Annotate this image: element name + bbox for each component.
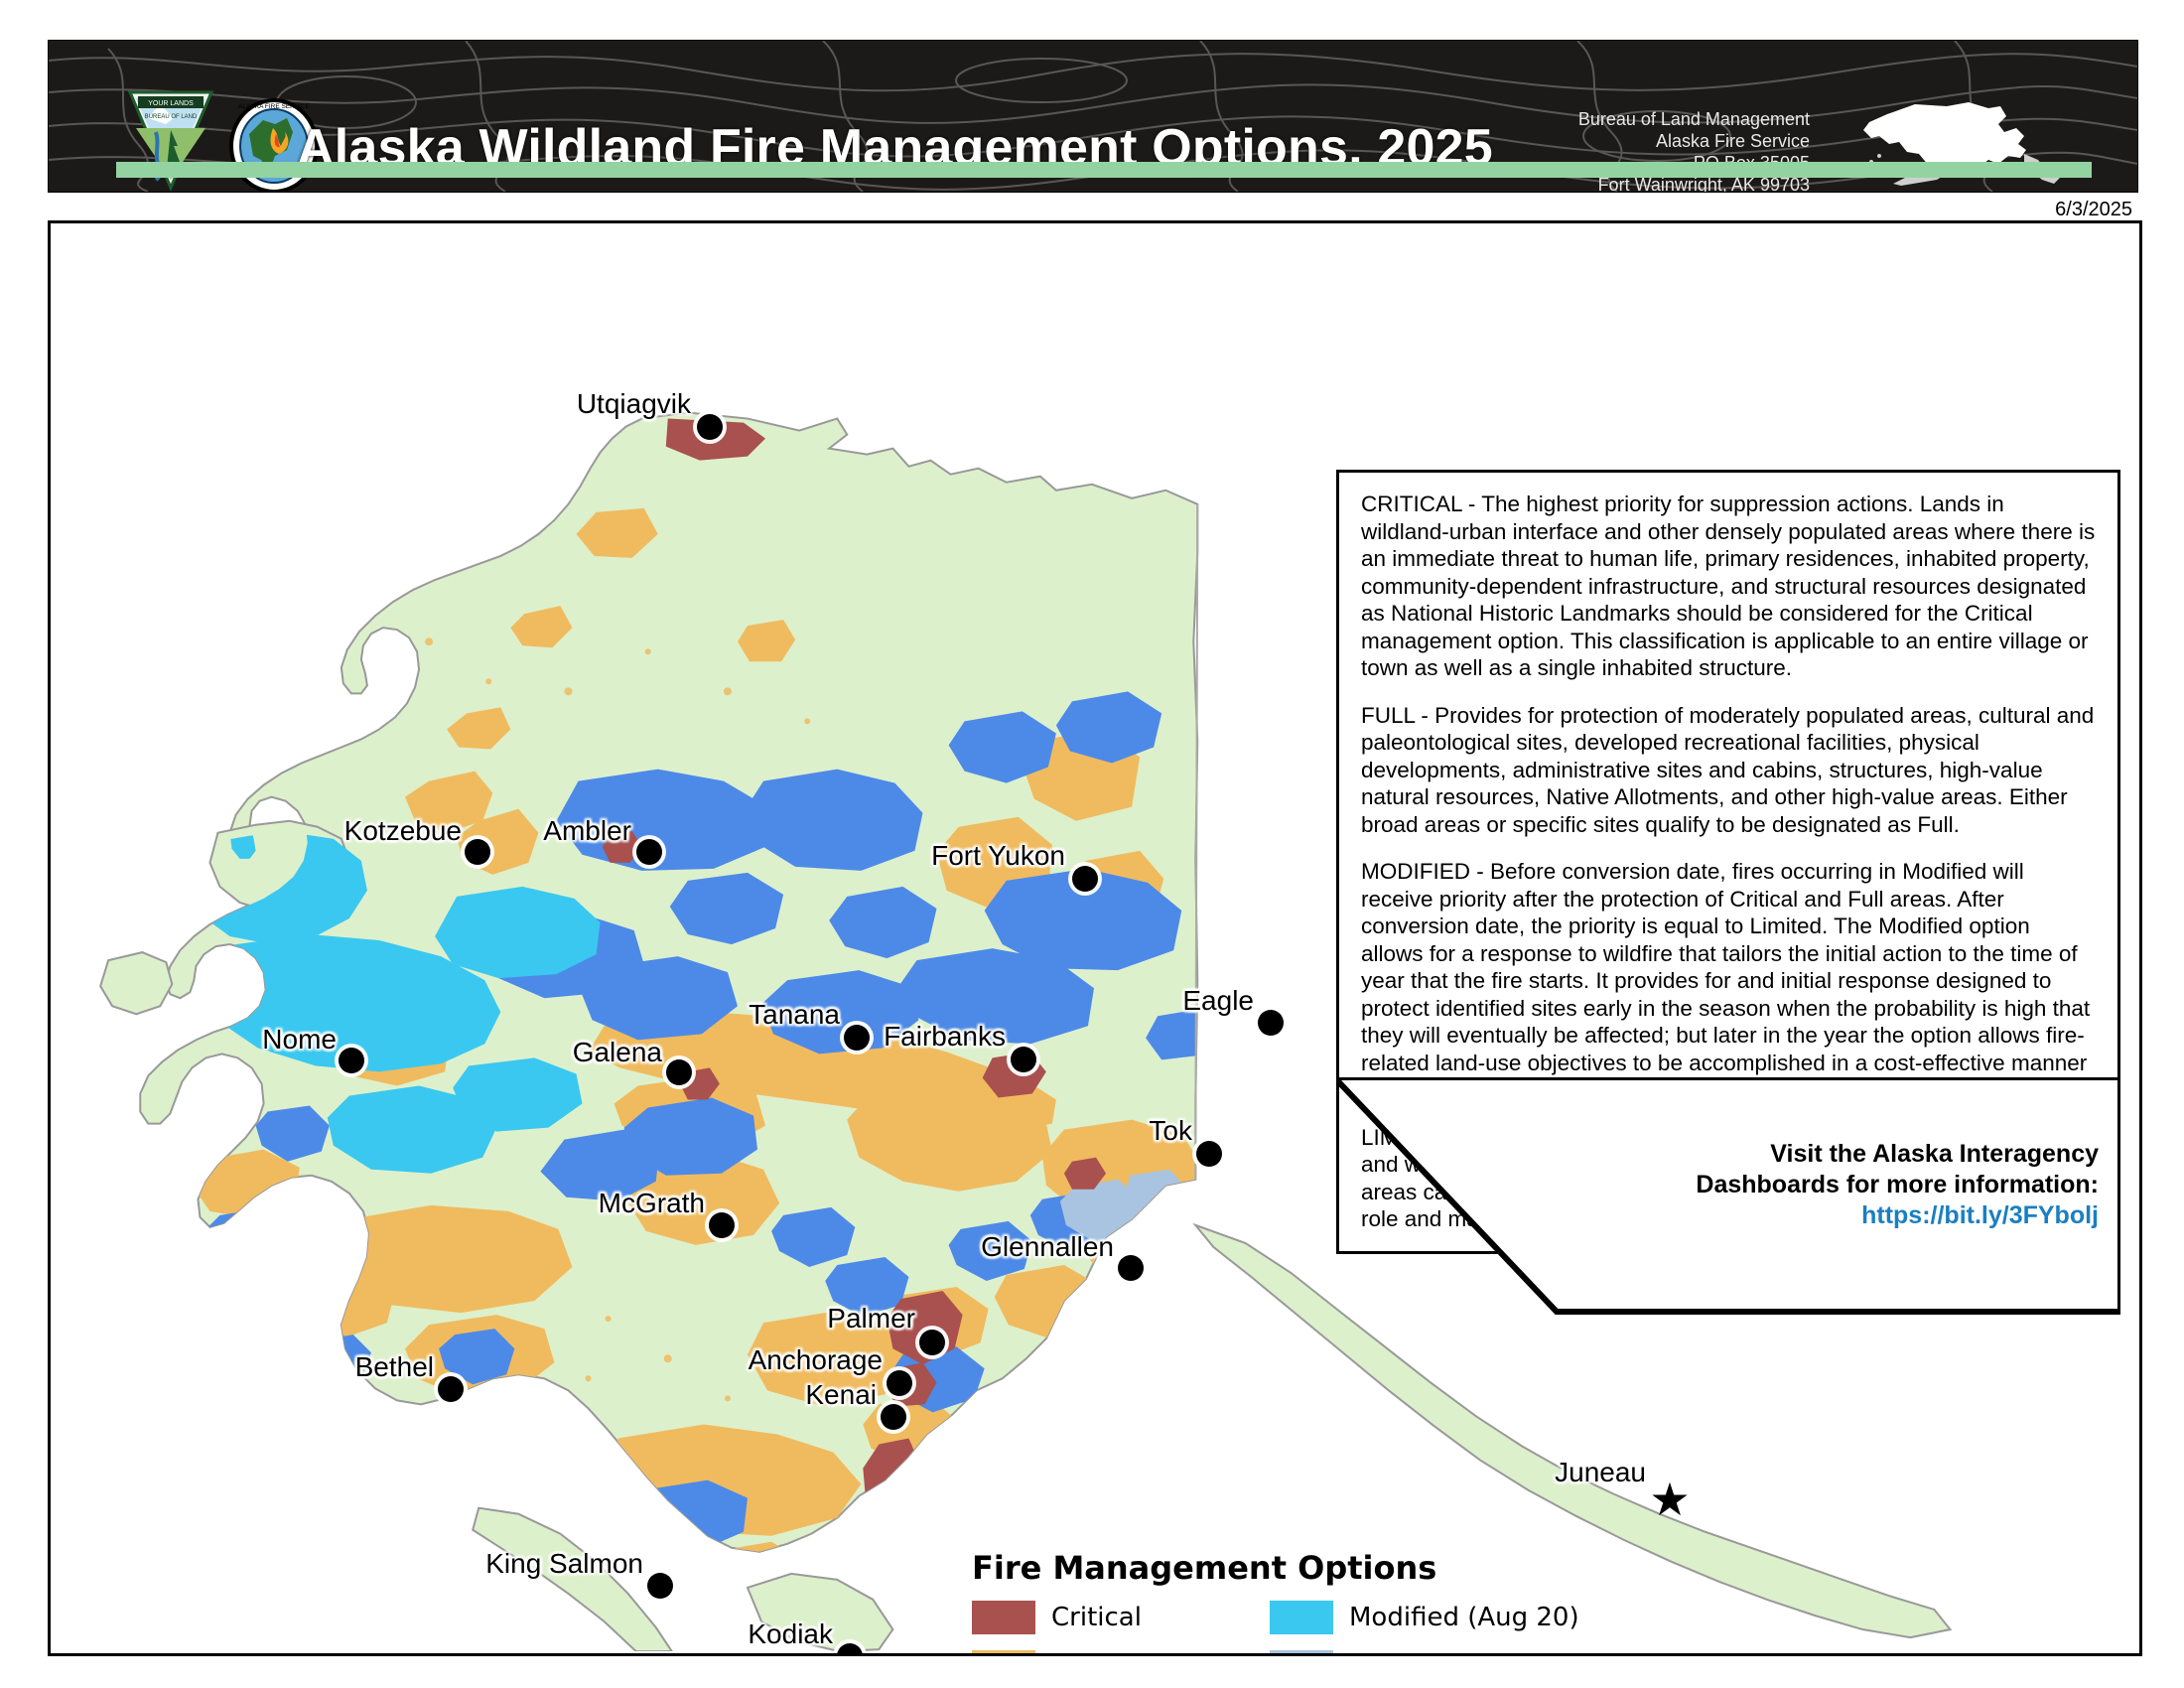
city-label: Kodiak xyxy=(748,1618,833,1650)
unplanned-areas xyxy=(1082,1338,1136,1382)
dashboard-text: Visit the Alaska Interagency Dashboards … xyxy=(1696,1139,2099,1231)
dashboard-line-1: Visit the Alaska Interagency xyxy=(1696,1139,2099,1170)
city-dot-icon xyxy=(709,1212,735,1238)
legend: Fire Management Options CriticalModified… xyxy=(972,1549,1538,1656)
city-dot-icon xyxy=(887,1370,912,1396)
address-line-1: Bureau of Land Management xyxy=(1578,108,1810,130)
city-label: King Salmon xyxy=(485,1548,643,1580)
city-label: Eagle xyxy=(1182,985,1254,1017)
legend-swatch xyxy=(972,1601,1035,1634)
svg-text:BUREAU OF LAND: BUREAU OF LAND xyxy=(145,114,198,120)
city-label: Anchorage xyxy=(749,1344,883,1376)
legend-items: CriticalModified (Aug 20)FullModified (S… xyxy=(972,1601,1538,1656)
description-critical: CRITICAL - The highest priority for supp… xyxy=(1361,491,2096,682)
city-label: Bethel xyxy=(355,1351,434,1383)
svg-text:YOUR LANDS: YOUR LANDS xyxy=(148,100,194,107)
city-dot-icon xyxy=(1196,1141,1222,1167)
description-modified: MODIFIED - Before conversion date, fires… xyxy=(1361,858,2096,1104)
dashboard-callout: Visit the Alaska Interagency Dashboards … xyxy=(1336,1077,2120,1316)
city-dot-icon xyxy=(1118,1255,1144,1281)
dashboard-link[interactable]: https://bit.ly/3FYbolj xyxy=(1696,1200,2099,1231)
city-label: Tanana xyxy=(749,999,840,1031)
city-label: Utqiagvik xyxy=(577,388,691,420)
legend-swatch xyxy=(972,1650,1035,1656)
header-banner: YOUR LANDS BUREAU OF LAND ALASKA FIRE SE… xyxy=(48,40,2138,193)
city-dot-icon xyxy=(1258,1010,1284,1036)
city-label: McGrath xyxy=(599,1188,705,1219)
city-dot-icon xyxy=(636,839,662,865)
legend-item-modified-sep-30[interactable]: Modified (Sep 30) xyxy=(1270,1650,1568,1656)
city-label: Palmer xyxy=(827,1303,915,1335)
city-label: Fort Yukon xyxy=(931,840,1065,872)
city-dot-icon xyxy=(465,839,490,865)
city-dot-icon xyxy=(647,1573,673,1599)
city-dot-icon xyxy=(666,1059,692,1085)
city-label: Ambler xyxy=(543,815,631,847)
city-label: Nome xyxy=(262,1024,337,1055)
city-dot-icon xyxy=(339,1048,364,1073)
city-dot-icon xyxy=(697,414,723,440)
city-label: Fairbanks xyxy=(884,1021,1006,1053)
city-label: Juneau xyxy=(1555,1457,1646,1488)
map-date: 6/3/2025 xyxy=(2055,199,2132,221)
capital-star-icon: ★ xyxy=(1649,1479,1690,1519)
agency-address: Bureau of Land Management Alaska Fire Se… xyxy=(1578,108,1810,193)
city-label: Tok xyxy=(1149,1115,1192,1147)
city-label: Galena xyxy=(573,1037,662,1068)
city-dot-icon xyxy=(438,1376,464,1402)
legend-label: Modified (Aug 20) xyxy=(1349,1603,1579,1632)
city-dot-icon xyxy=(881,1404,906,1430)
city-dot-icon xyxy=(1011,1047,1036,1072)
description-full: FULL - Provides for protection of modera… xyxy=(1361,702,2096,839)
dashboard-line-2: Dashboards for more information: xyxy=(1696,1170,2099,1200)
legend-item-modified-aug-20[interactable]: Modified (Aug 20) xyxy=(1270,1601,1568,1634)
alaska-state-outline-icon xyxy=(1849,94,2078,193)
legend-swatch xyxy=(1270,1601,1333,1634)
legend-item-full[interactable]: Full xyxy=(972,1650,1270,1656)
modified-aug10-areas xyxy=(1102,1217,1211,1407)
address-line-2: Alaska Fire Service xyxy=(1578,130,1810,152)
legend-label: Full xyxy=(1051,1652,1095,1656)
city-label: Kenai xyxy=(805,1379,877,1411)
map-frame[interactable]: UtqiagvikKotzebueAmblerFort YukonNomeGal… xyxy=(48,220,2142,1656)
city-label: Kotzebue xyxy=(344,815,462,847)
legend-swatch xyxy=(1270,1650,1333,1656)
city-label: Glennallen xyxy=(981,1231,1114,1263)
legend-title: Fire Management Options xyxy=(972,1549,1538,1587)
city-dot-icon xyxy=(844,1025,870,1051)
header-accent-bar xyxy=(116,162,2092,178)
legend-label: Critical xyxy=(1051,1603,1142,1632)
legend-label: Modified (Sep 30) xyxy=(1349,1652,1577,1656)
city-dot-icon xyxy=(919,1330,945,1355)
legend-item-critical[interactable]: Critical xyxy=(972,1601,1270,1634)
svg-text:ALASKA FIRE SERVICE: ALASKA FIRE SERVICE xyxy=(238,103,310,110)
city-dot-icon xyxy=(1072,866,1098,892)
